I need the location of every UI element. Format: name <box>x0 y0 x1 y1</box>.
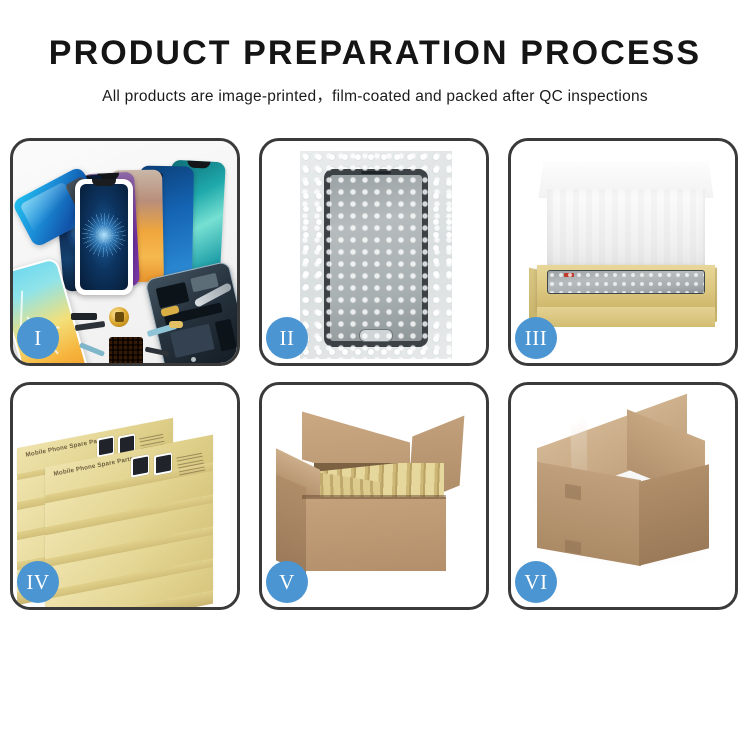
step-badge-4: IV <box>17 561 59 603</box>
step-badge-2: II <box>266 317 308 359</box>
chip-grid-part <box>109 337 143 363</box>
bubble-wrap-sheet <box>300 151 452 359</box>
box-front-panel <box>537 307 715 327</box>
step-badge-1: I <box>17 317 59 359</box>
gold-contact-part <box>169 321 183 328</box>
connector-part <box>71 313 97 320</box>
flex-cable-part <box>75 321 106 331</box>
carton-side-panel <box>639 464 709 565</box>
home-button <box>359 329 393 342</box>
panel-step-5: V <box>259 382 489 610</box>
product-preparation-infographic: PRODUCT PREPARATION PROCESS All products… <box>0 0 750 750</box>
header: PRODUCT PREPARATION PROCESS All products… <box>0 0 750 106</box>
carton-side-panel <box>276 474 306 573</box>
step-badge-6: VI <box>515 561 557 603</box>
phone-screen-assembly <box>324 169 428 347</box>
page-title: PRODUCT PREPARATION PROCESS <box>0 36 750 70</box>
carton-top-edge <box>302 495 446 499</box>
process-row-bottom: Mobile Phone Spare Parts <box>10 382 740 610</box>
front-glass-panel <box>75 179 133 295</box>
wrapped-screen-in-box <box>547 270 705 294</box>
speaker-coil-part <box>109 307 129 327</box>
panel-step-3: III <box>508 138 738 366</box>
page-subtitle: All products are image-printed，film-coat… <box>0 84 750 106</box>
retail-box <box>45 583 213 607</box>
carton-front-panel <box>302 497 446 571</box>
carton-handle-slot <box>565 484 581 501</box>
screw-part <box>191 357 196 362</box>
foam-sheet <box>547 189 705 269</box>
panel-step-6: VI <box>508 382 738 610</box>
panel-step-4: Mobile Phone Spare Parts <box>10 382 240 610</box>
panel-step-1: I <box>10 138 240 366</box>
carton-handle-slot <box>565 540 581 555</box>
process-row-top: I II <box>10 138 740 366</box>
step-badge-3: III <box>515 317 557 359</box>
step-badge-5: V <box>266 561 308 603</box>
phone-motherboard <box>144 261 237 363</box>
kraft-inner-box <box>537 265 715 311</box>
carton-front-panel <box>537 462 641 566</box>
process-grid: I II <box>10 138 740 626</box>
panel-step-2: II <box>259 138 489 366</box>
